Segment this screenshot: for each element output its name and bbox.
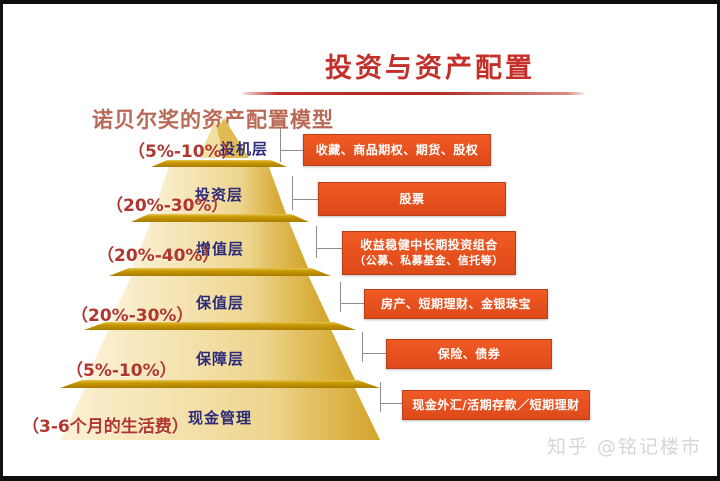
content-box-speculation[interactable]: 收藏、商品期权、期货、股权 xyxy=(303,134,491,166)
content-box-appreciation[interactable]: 收益稳健中长期投资组合 （公募、私募基金、信托等） xyxy=(342,231,516,275)
watermark: 知乎 @铭记楼市 xyxy=(547,432,702,459)
content-box-preservation[interactable]: 房产、短期理财、金银珠宝 xyxy=(364,289,548,319)
title-underline-rule xyxy=(243,92,584,95)
content-box-cash[interactable]: 现金外汇/活期存款／短期理财 xyxy=(402,390,590,420)
percent-caption-2: （20%-30%） xyxy=(106,191,228,216)
percent-caption-1: （5%-10%） xyxy=(128,137,239,162)
content-box-line1: 股票 xyxy=(399,191,424,207)
pyramid-band-4 xyxy=(109,268,331,276)
connector-4 xyxy=(340,282,366,312)
connector-6 xyxy=(380,382,404,412)
content-box-line1: 保险、债券 xyxy=(438,346,501,362)
content-box-line1: 房产、短期理财、金银珠宝 xyxy=(381,296,531,312)
asset-allocation-pyramid: 投资层 增值层 保值层 保障层 现金管理 xyxy=(60,118,380,440)
content-box-investment[interactable]: 股票 xyxy=(318,182,506,216)
pyramid-band-6 xyxy=(60,380,380,388)
content-box-line1: 收藏、商品期权、期货、股权 xyxy=(316,142,479,158)
content-box-line1: 收益稳健中长期投资组合 xyxy=(360,237,498,253)
percent-caption-5: （5%-10%） xyxy=(66,356,177,381)
page-title: 投资与资产配置 xyxy=(300,46,560,85)
frame-edge-bottom xyxy=(0,476,720,481)
connector-2 xyxy=(292,176,320,210)
content-box-line2: （公募、私募基金、信托等） xyxy=(354,254,504,269)
connector-3 xyxy=(316,226,344,258)
frame-edge-top xyxy=(0,0,720,4)
content-box-protection[interactable]: 保险、债券 xyxy=(386,339,552,369)
percent-caption-4: （20%-30%） xyxy=(71,301,193,326)
content-box-line1: 现金外汇/活期存款／短期理财 xyxy=(412,397,579,413)
slide-canvas: 投资与资产配置 诺贝尔奖的资产配置模型 投资层 增值层 保值层 xyxy=(0,0,720,481)
percent-caption-6: （3-6个月的生活费） xyxy=(22,412,189,437)
connector-5 xyxy=(362,332,388,362)
frame-edge-left xyxy=(0,0,3,481)
percent-caption-3: （20%-40%） xyxy=(97,241,219,266)
